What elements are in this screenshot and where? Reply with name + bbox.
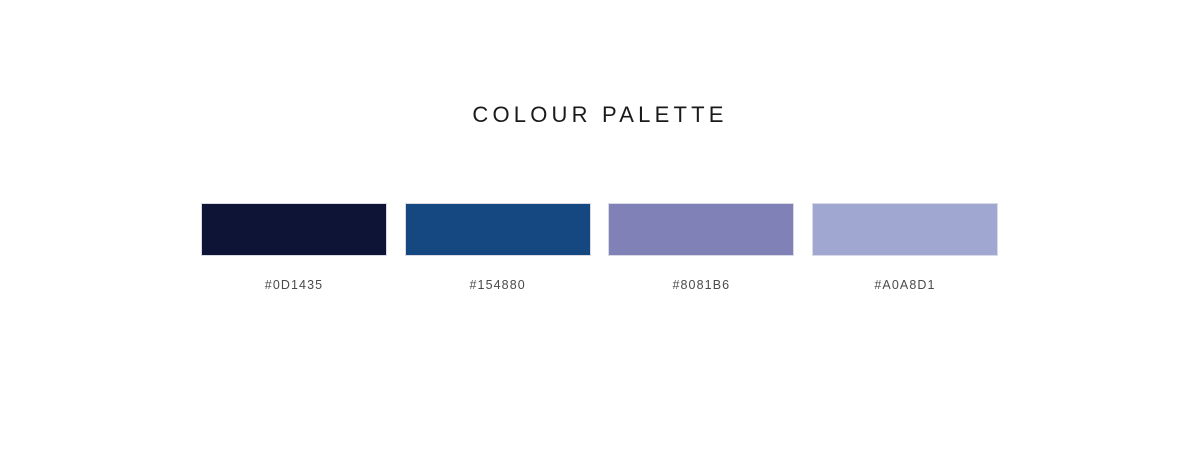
swatch-color-chip[interactable] — [405, 203, 591, 256]
palette-swatch-row: #0D1435 #154880 #8081B6 #A0A8D1 — [201, 203, 998, 293]
swatch-hex-label: #154880 — [469, 277, 525, 293]
swatch-hex-label: #A0A8D1 — [874, 277, 935, 293]
swatch-color-chip[interactable] — [201, 203, 387, 256]
swatch-color-chip[interactable] — [608, 203, 794, 256]
page-title: COLOUR PALETTE — [0, 100, 1200, 130]
swatch-item[interactable]: #154880 — [405, 203, 591, 293]
colour-palette-page: COLOUR PALETTE #0D1435 #154880 #8081B6 #… — [0, 0, 1200, 458]
swatch-item[interactable]: #8081B6 — [608, 203, 794, 293]
swatch-item[interactable]: #A0A8D1 — [812, 203, 998, 293]
swatch-color-chip[interactable] — [812, 203, 998, 256]
swatch-item[interactable]: #0D1435 — [201, 203, 387, 293]
swatch-hex-label: #8081B6 — [672, 277, 730, 293]
swatch-hex-label: #0D1435 — [265, 277, 323, 293]
